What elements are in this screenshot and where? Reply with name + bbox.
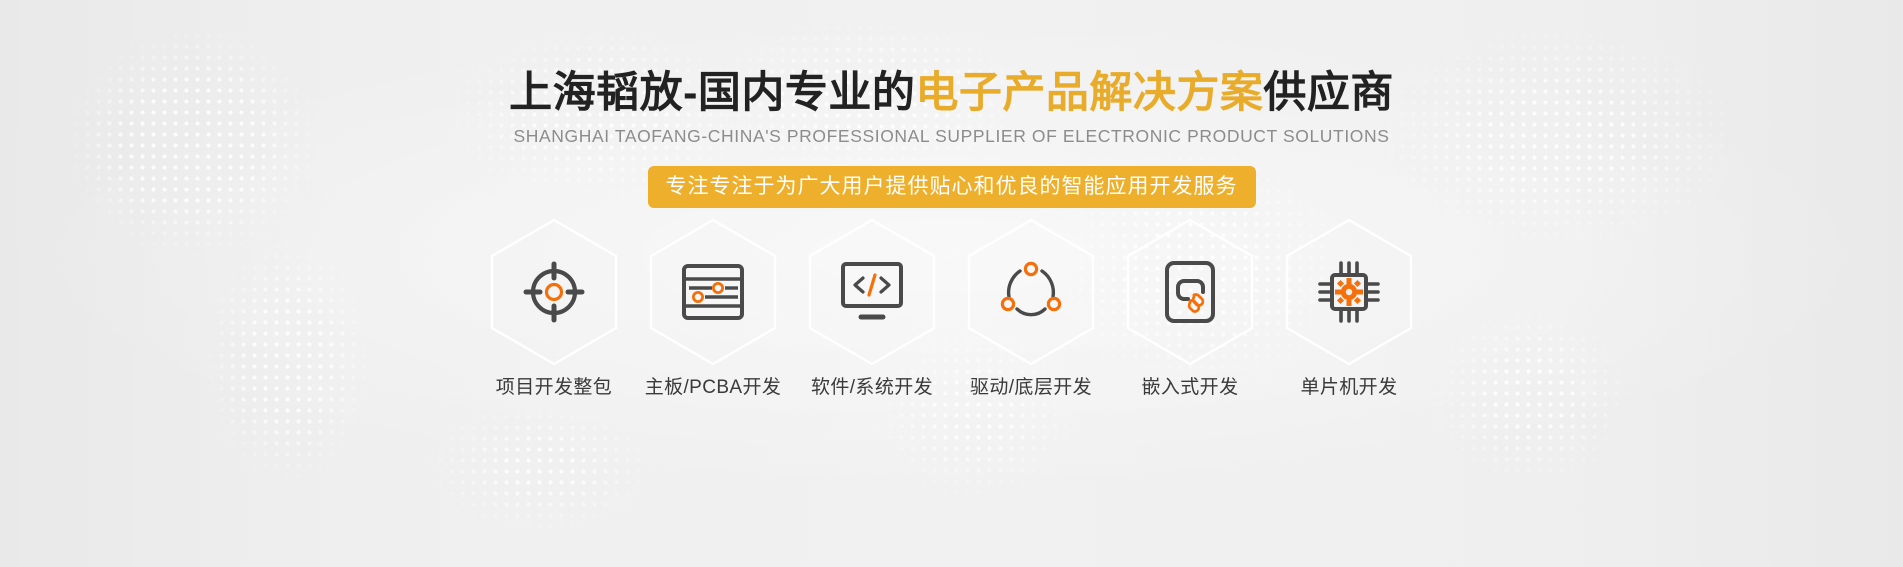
icon-holder (995, 256, 1067, 328)
node-network-icon (1000, 261, 1062, 323)
icon-holder (1154, 256, 1226, 328)
icon-holder (836, 256, 908, 328)
feature-label: 软件/系统开发 (811, 378, 933, 397)
dot-cluster (380, 400, 700, 567)
subtitle: SHANGHAI TAOFANG-CHINA'S PROFESSIONAL SU… (0, 128, 1903, 146)
tagline-row: 专注专注于为广大用户提供贴心和优良的智能应用开发服务 (0, 166, 1903, 208)
hexagon-frame (1284, 218, 1414, 366)
feature-item-driver[interactable]: 驱动/底层开发 (952, 218, 1111, 397)
headline-accent: 电子产品解决方案 (915, 69, 1263, 117)
headline-lead: 上海韬放-国内专业的 (509, 69, 915, 117)
icon-holder (1313, 256, 1385, 328)
feature-item-project-package[interactable]: 项目开发整包 (475, 218, 634, 397)
hexagon-frame (807, 218, 937, 366)
tagline-badge: 专注专注于为广大用户提供贴心和优良的智能应用开发服务 (648, 166, 1256, 208)
hexagon-frame (489, 218, 619, 366)
feature-item-pcba[interactable]: 主板/PCBA开发 (634, 218, 793, 397)
feature-label: 嵌入式开发 (1141, 378, 1238, 397)
crosshair-target-icon (522, 260, 586, 324)
hexagon-frame (648, 218, 778, 366)
circuit-board-icon (681, 262, 745, 322)
icon-holder (677, 256, 749, 328)
feature-label: 主板/PCBA开发 (645, 378, 782, 397)
icon-holder (518, 256, 590, 328)
hero-banner: 上海韬放-国内专业的电子产品解决方案供应商 SHANGHAI TAOFANG-C… (0, 0, 1903, 567)
feature-list: 项目开发整包 (0, 218, 1903, 397)
feature-item-software[interactable]: 软件/系统开发 (793, 218, 952, 397)
feature-item-mcu[interactable]: 单片机开发 (1270, 218, 1429, 397)
page-title: 上海韬放-国内专业的电子产品解决方案供应商 (0, 72, 1903, 115)
headline-block: 上海韬放-国内专业的电子产品解决方案供应商 SHANGHAI TAOFANG-C… (0, 72, 1903, 208)
code-monitor-icon (839, 261, 905, 323)
microcontroller-gear-icon (1316, 259, 1382, 325)
feature-label: 项目开发整包 (496, 378, 612, 397)
feature-label: 驱动/底层开发 (970, 378, 1092, 397)
headline-tail: 供应商 (1263, 69, 1394, 117)
embedded-chip-link-icon (1161, 260, 1219, 324)
feature-label: 单片机开发 (1300, 378, 1397, 397)
feature-item-embedded[interactable]: 嵌入式开发 (1111, 218, 1270, 397)
hexagon-frame (1125, 218, 1255, 366)
hexagon-frame (966, 218, 1096, 366)
